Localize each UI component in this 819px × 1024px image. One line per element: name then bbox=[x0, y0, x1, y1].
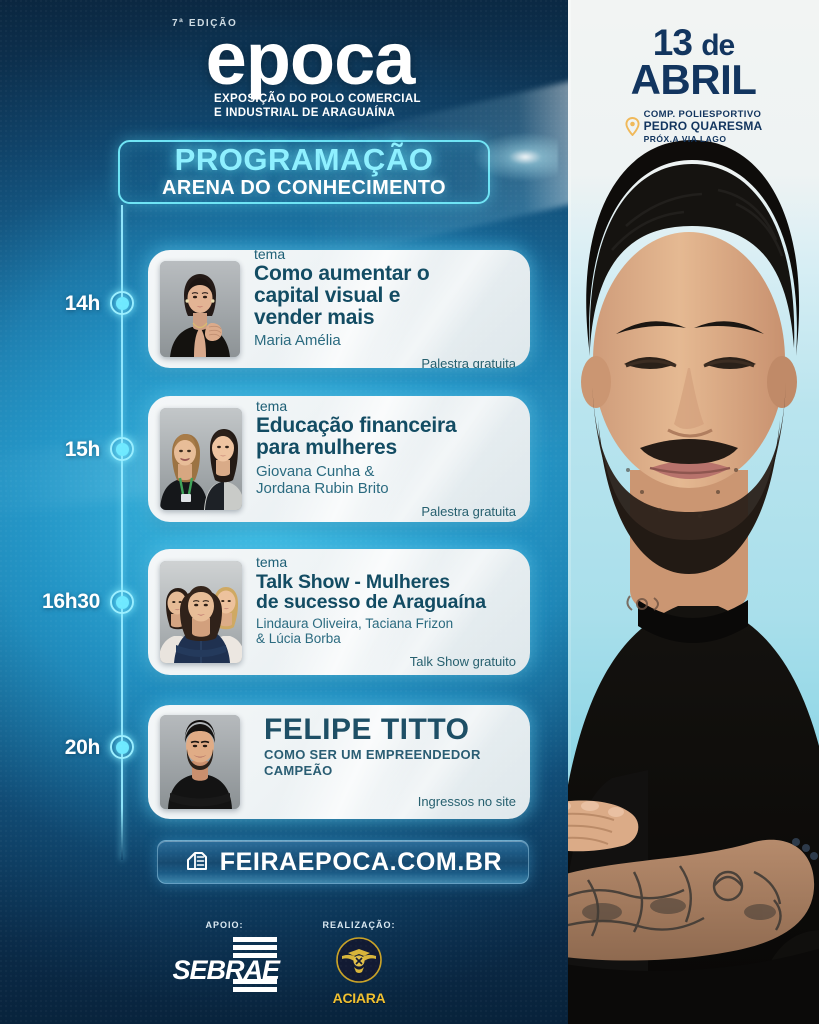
website-button[interactable]: FEIRAEPOCA.COM.BR bbox=[157, 840, 529, 884]
sebrae-logo: SEBRAE bbox=[173, 937, 277, 997]
venue-text: COMP. POLIESPORTIVO PEDRO QUARESMA PRÓX.… bbox=[644, 109, 763, 145]
speaker-photo-talkshow-trio bbox=[160, 561, 242, 663]
speaker-photo-giovana-jordana bbox=[160, 408, 242, 510]
left-schedule-panel: 7ª EDIÇÃO epoca EXPOSIÇÃO DO POLO COMERC… bbox=[0, 0, 568, 1024]
aciara-logo: ACIARA bbox=[330, 937, 388, 1006]
felipe-titto-subtitle: COMO SER UM EMPREENDEDOR CAMPEÃO bbox=[264, 747, 516, 778]
epoca-logo: 7ª EDIÇÃO epoca EXPOSIÇÃO DO POLO COMERC… bbox=[150, 18, 470, 121]
event-date-month: ABRIL bbox=[568, 61, 819, 100]
session-body-16h30: tema Talk Show - Mulheres de sucesso de … bbox=[242, 555, 516, 669]
session-body-20h: FELIPE TITTO COMO SER UM EMPREENDEDOR CA… bbox=[240, 715, 516, 809]
venue-line3: PRÓX.A VIA LAGO bbox=[644, 134, 763, 145]
location-pin-icon bbox=[625, 117, 640, 136]
event-date-day-row: 13 de bbox=[568, 26, 819, 60]
speaker-line: Giovana Cunha & bbox=[256, 463, 516, 480]
session-badge-20h: Ingressos no site bbox=[264, 794, 516, 809]
session-speakers-14h: Maria Amélia bbox=[254, 332, 516, 349]
session-badge-16h30: Talk Show gratuito bbox=[256, 654, 516, 669]
time-label-20h: 20h bbox=[10, 736, 100, 760]
session-title-line: capital visual e bbox=[254, 285, 516, 307]
banner-title: PROGRAMAÇÃO bbox=[175, 144, 434, 175]
session-body-15h: tema Educação financeira para mulheres G… bbox=[242, 399, 516, 519]
event-poster: 7ª EDIÇÃO epoca EXPOSIÇÃO DO POLO COMERC… bbox=[0, 0, 819, 1024]
time-label-14h: 14h bbox=[10, 292, 100, 316]
realization-column: REALIZAÇÃO: ACIARA bbox=[323, 920, 396, 1006]
session-card-20h[interactable]: FELIPE TITTO COMO SER UM EMPREENDEDOR CA… bbox=[148, 705, 530, 819]
session-speakers-15h: Giovana Cunha & Jordana Rubin Brito bbox=[256, 463, 516, 497]
felipe-titto-name: FELIPE TITTO bbox=[264, 715, 516, 745]
session-speakers-16h30: Lindaura Oliveira, Taciana Frizon & Lúci… bbox=[256, 616, 516, 647]
session-badge-14h: Palestra gratuita bbox=[254, 356, 516, 368]
time-label-15h: 15h bbox=[10, 438, 100, 462]
session-title-line: para mulheres bbox=[256, 437, 516, 459]
felipe-subtitle-line: CAMPEÃO bbox=[264, 763, 516, 778]
speaker-line: Jordana Rubin Brito bbox=[256, 480, 516, 497]
footer-logos: APOIO: SEBRAE REALIZAÇÃO: bbox=[0, 920, 568, 1006]
aciara-wordmark: ACIARA bbox=[330, 990, 388, 1006]
tema-label-14h: tema bbox=[254, 250, 516, 262]
session-card-16h30[interactable]: tema Talk Show - Mulheres de sucesso de … bbox=[148, 549, 530, 675]
tema-label-16h30: tema bbox=[256, 555, 516, 570]
session-title-14h: Como aumentar o capital visual e vender … bbox=[254, 263, 516, 328]
brand-wordmark: epoca bbox=[150, 27, 470, 91]
realization-caption: REALIZAÇÃO: bbox=[323, 920, 396, 930]
session-card-15h[interactable]: tema Educação financeira para mulheres G… bbox=[148, 396, 530, 522]
session-title-16h30: Talk Show - Mulheres de sucesso de Aragu… bbox=[256, 572, 516, 613]
speaker-photo-maria-amelia bbox=[160, 261, 240, 357]
timeline-dot-15h bbox=[110, 437, 134, 461]
brand-subtitle-line1: EXPOSIÇÃO DO POLO COMERCIAL bbox=[214, 92, 470, 107]
speaker-line: & Lúcia Borba bbox=[256, 631, 516, 646]
venue-line2: PEDRO QUARESMA bbox=[644, 120, 763, 134]
session-title-line: de sucesso de Araguaína bbox=[256, 592, 516, 612]
brand-subtitle-line2: E INDUSTRIAL DE ARAGUAÍNA bbox=[214, 106, 470, 121]
session-title-line: Como aumentar o bbox=[254, 263, 516, 285]
edition-label: 7ª EDIÇÃO bbox=[172, 18, 470, 29]
speaker-photo-felipe-titto bbox=[160, 715, 240, 809]
event-date-block: 13 de ABRIL COMP. POLIESPORTIVO PEDRO QU… bbox=[568, 26, 819, 145]
timeline-dot-20h bbox=[110, 735, 134, 759]
session-badge-15h: Palestra gratuita bbox=[256, 504, 516, 519]
website-url: FEIRAEPOCA.COM.BR bbox=[220, 848, 502, 877]
session-title-15h: Educação financeira para mulheres bbox=[256, 415, 516, 459]
felipe-titto-hero-photo bbox=[568, 0, 819, 1024]
programacao-banner: PROGRAMAÇÃO ARENA DO CONHECIMENTO bbox=[118, 140, 490, 204]
time-label-16h30: 16h30 bbox=[0, 590, 100, 614]
brand-subtitle: EXPOSIÇÃO DO POLO COMERCIAL E INDUSTRIAL… bbox=[214, 92, 470, 121]
session-title-line: vender mais bbox=[254, 307, 516, 329]
session-title-line: Talk Show - Mulheres bbox=[256, 572, 516, 592]
tema-label-15h: tema bbox=[256, 399, 516, 414]
banner-subtitle: ARENA DO CONHECIMENTO bbox=[162, 177, 446, 200]
session-body-14h: tema Como aumentar o capital visual e ve… bbox=[240, 250, 516, 368]
right-photo-panel: 13 de ABRIL COMP. POLIESPORTIVO PEDRO QU… bbox=[568, 0, 819, 1024]
speaker-line: Lindaura Oliveira, Taciana Frizon bbox=[256, 616, 516, 631]
support-column: APOIO: SEBRAE bbox=[173, 920, 277, 1006]
timeline-dot-16h30 bbox=[110, 590, 134, 614]
felipe-subtitle-line: COMO SER UM EMPREENDEDOR bbox=[264, 747, 516, 762]
support-caption: APOIO: bbox=[173, 920, 277, 930]
event-venue: COMP. POLIESPORTIVO PEDRO QUARESMA PRÓX.… bbox=[568, 109, 819, 145]
session-card-14h[interactable]: tema Como aumentar o capital visual e ve… bbox=[148, 250, 530, 368]
timeline-dot-14h bbox=[110, 291, 134, 315]
session-title-line: Educação financeira bbox=[256, 415, 516, 437]
tent-pavilion-icon bbox=[184, 847, 210, 878]
